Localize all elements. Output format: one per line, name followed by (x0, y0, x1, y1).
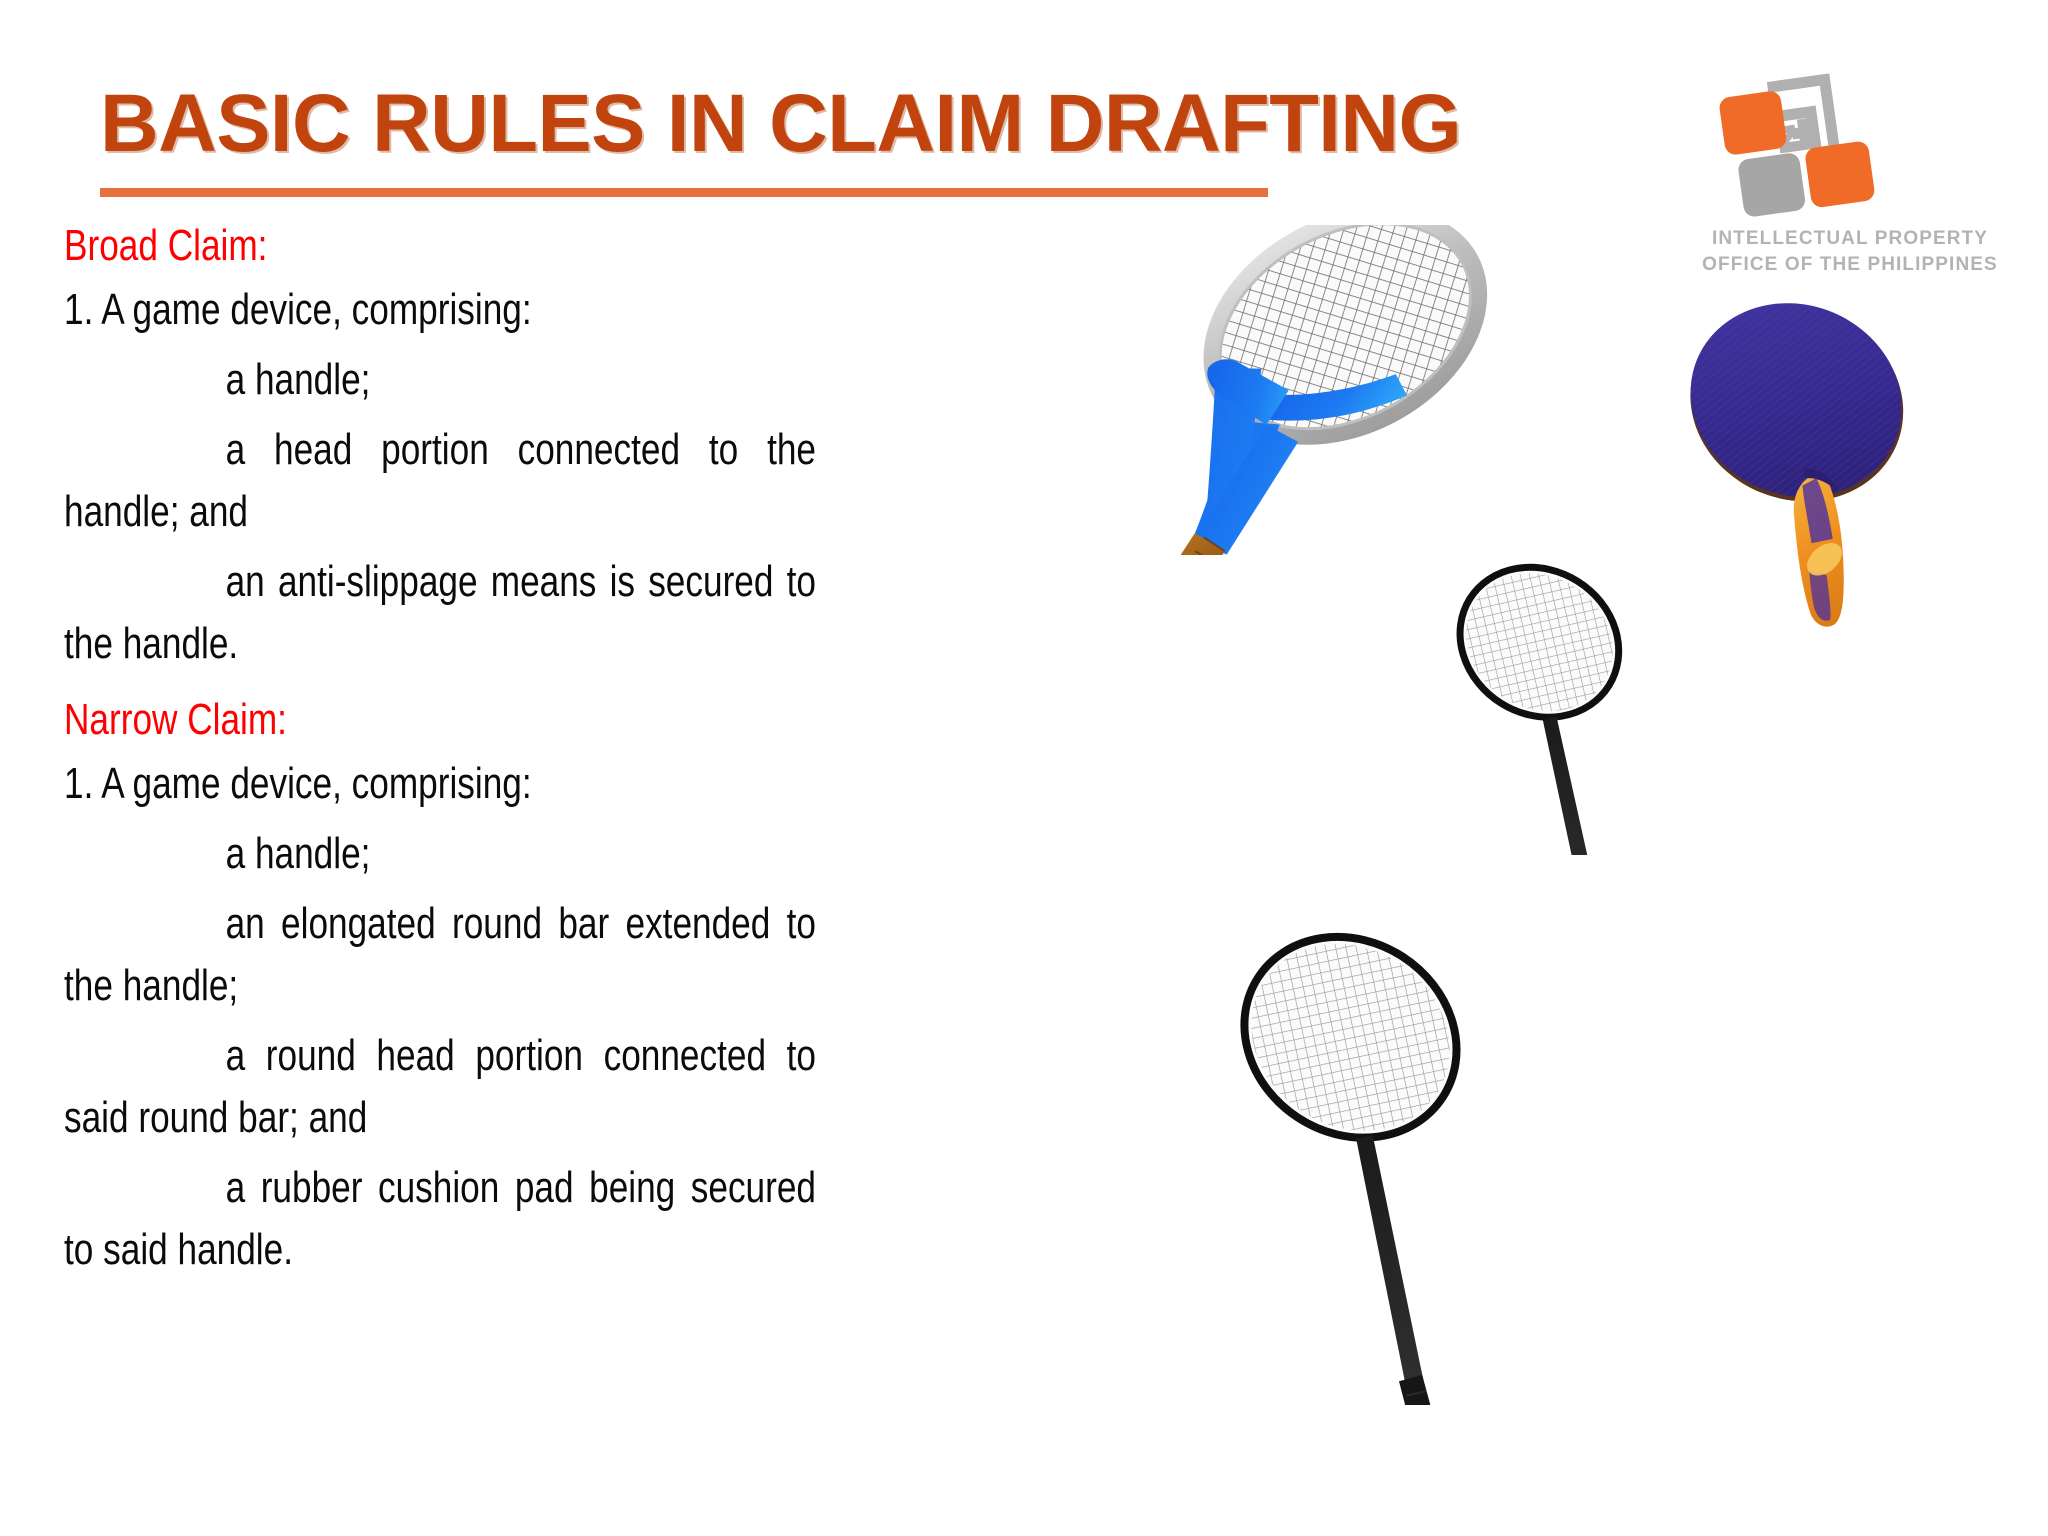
logo-caption-line2: OFFICE OF THE PHILIPPINES (1700, 252, 2000, 278)
logo-mark-icon (1700, 38, 1950, 228)
narrow-claim-line-1: a handle; (64, 823, 816, 885)
narrow-claim-line-2: an elongated round bar extended to the h… (64, 893, 816, 1017)
narrow-claim-line-0: 1. A game device, comprising: (64, 753, 816, 815)
broad-claim-line-1: a handle; (64, 349, 816, 411)
slide-canvas: BASIC RULES IN CLAIM DRAFTING INTELLECTU… (0, 0, 2048, 1536)
badminton-racket-small-image (1420, 555, 1820, 855)
broad-claim-label: Broad Claim: (64, 215, 816, 277)
narrow-claim-label: Narrow Claim: (64, 689, 816, 751)
narrow-claim-line-3: a round head portion connected to said r… (64, 1025, 816, 1149)
ipophl-logo: INTELLECTUAL PROPERTY OFFICE OF THE PHIL… (1700, 38, 2020, 288)
logo-caption: INTELLECTUAL PROPERTY OFFICE OF THE PHIL… (1700, 226, 2000, 278)
claims-text-column: Broad Claim: 1. A game device, comprisin… (64, 215, 816, 1281)
page-title: BASIC RULES IN CLAIM DRAFTING (100, 78, 1644, 170)
title-underline-rule (100, 188, 1268, 197)
broad-claim-line-3: an anti-slippage means is secured to the… (64, 551, 816, 675)
tennis-racket-image (1020, 225, 1580, 555)
narrow-claim-line-4: a rubber cushion pad being secured to sa… (64, 1157, 816, 1281)
broad-claim-line-2: a head portion connected to the handle; … (64, 419, 816, 543)
badminton-racket-large-image (1195, 925, 1775, 1405)
logo-caption-line1: INTELLECTUAL PROPERTY (1700, 226, 2000, 252)
broad-claim-line-0: 1. A game device, comprising: (64, 279, 816, 341)
